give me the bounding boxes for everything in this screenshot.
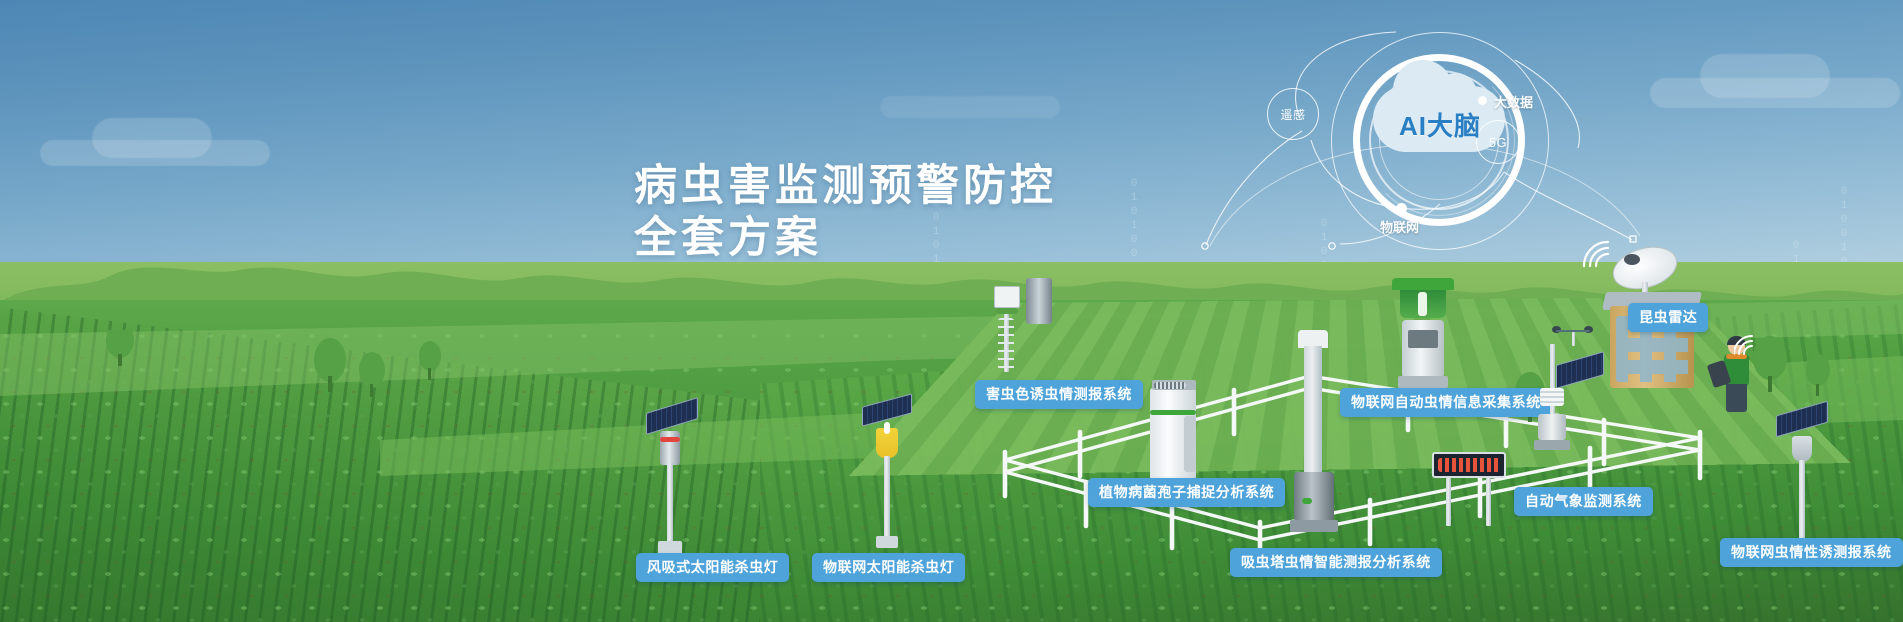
- worker-wifi-icon: [1734, 330, 1780, 364]
- spore-cabinet-green-band: [1150, 410, 1196, 415]
- label-weather-station[interactable]: 自动气象监测系统: [1514, 487, 1653, 516]
- label-spore-capture[interactable]: 植物病菌孢子捕捉分析系统: [1088, 478, 1285, 507]
- ai-brain-label: AI大脑: [1345, 106, 1535, 143]
- led-screen-text: [1438, 458, 1500, 472]
- node-iot-dot: [1396, 203, 1407, 214]
- suction-tower-shaft: [1304, 346, 1322, 476]
- node-iot-label: 物联网: [1380, 217, 1419, 236]
- title-line-1: 病虫害监测预警防控: [634, 160, 1057, 212]
- label-pest-color-trap[interactable]: 害虫色诱虫情测报系统: [975, 380, 1143, 409]
- label-insect-radar[interactable]: 昆虫雷达: [1628, 303, 1708, 332]
- collector-lamp-glow: [1418, 292, 1427, 316]
- led-display-board[interactable]: [1432, 452, 1506, 526]
- weather-base: [1534, 440, 1570, 450]
- weather-shield: [1540, 388, 1564, 406]
- device-iot-pheromone-trap[interactable]: [1770, 408, 1834, 556]
- device-spore-capture[interactable]: [1150, 380, 1208, 488]
- pheromone-pole: [1799, 460, 1805, 544]
- label-suction-tower[interactable]: 吸虫塔虫情智能测报分析系统: [1230, 548, 1442, 577]
- pheromone-funnel: [1792, 436, 1812, 462]
- trap-sensor-box: [994, 286, 1020, 308]
- spore-cabinet-door: [1184, 416, 1196, 472]
- suction-tower-cabinet: [1294, 472, 1334, 522]
- device-pest-color-trap[interactable]: [990, 278, 1060, 378]
- anemometer: [1552, 322, 1594, 346]
- anemometer-stem: [1572, 332, 1575, 346]
- label-iot-solar-lamp[interactable]: 物联网太阳能杀虫灯: [812, 553, 965, 582]
- radar-signal-icon: [1580, 236, 1700, 296]
- trap-ladder: [998, 318, 1014, 370]
- node-remote-sensing-label: 遥感: [1280, 106, 1305, 123]
- label-iot-pheromone-trap[interactable]: 物联网虫情性诱测报系统: [1720, 538, 1903, 567]
- collector-base: [1398, 376, 1448, 388]
- collector-panel-dark: [1408, 330, 1438, 348]
- device-iot-pest-collector[interactable]: [1390, 278, 1460, 398]
- lamp-pole-2: [884, 456, 890, 540]
- led-pole-r: [1486, 478, 1491, 526]
- node-remote-sensing[interactable]: 遥感: [1267, 88, 1319, 140]
- poster-canvas: 010010100101 01010010010100101001 010010…: [0, 0, 1903, 622]
- spore-cabinet-vent: [1154, 382, 1186, 389]
- lamp-pole-1: [667, 463, 673, 545]
- collector-body: [1402, 320, 1444, 378]
- suction-tower-led: [1302, 498, 1312, 504]
- label-wind-suction-solar-lamp[interactable]: 风吸式太阳能杀虫灯: [636, 553, 789, 582]
- ai-brain-hub: AI大脑: [1345, 48, 1545, 208]
- weather-control-box: [1538, 414, 1566, 440]
- suction-tower-base: [1290, 520, 1338, 532]
- lamp-tube-2: [884, 422, 890, 434]
- worker-legs: [1726, 384, 1747, 412]
- weather-solar-panel: [1556, 351, 1604, 389]
- lamp-stripe-1: [660, 437, 680, 442]
- collector-roof: [1392, 278, 1454, 290]
- device-iot-solar-lamp[interactable]: [860, 400, 916, 550]
- label-iot-pest-collector[interactable]: 物联网自动虫情信息采集系统: [1340, 388, 1552, 417]
- led-pole-l: [1446, 478, 1451, 526]
- node-big-data-dot: [1478, 96, 1487, 105]
- device-suction-tower[interactable]: [1290, 330, 1338, 535]
- lamp-base-2: [876, 536, 898, 548]
- device-wind-suction-solar-lamp[interactable]: [640, 405, 700, 555]
- trap-cabinet: [1026, 278, 1052, 324]
